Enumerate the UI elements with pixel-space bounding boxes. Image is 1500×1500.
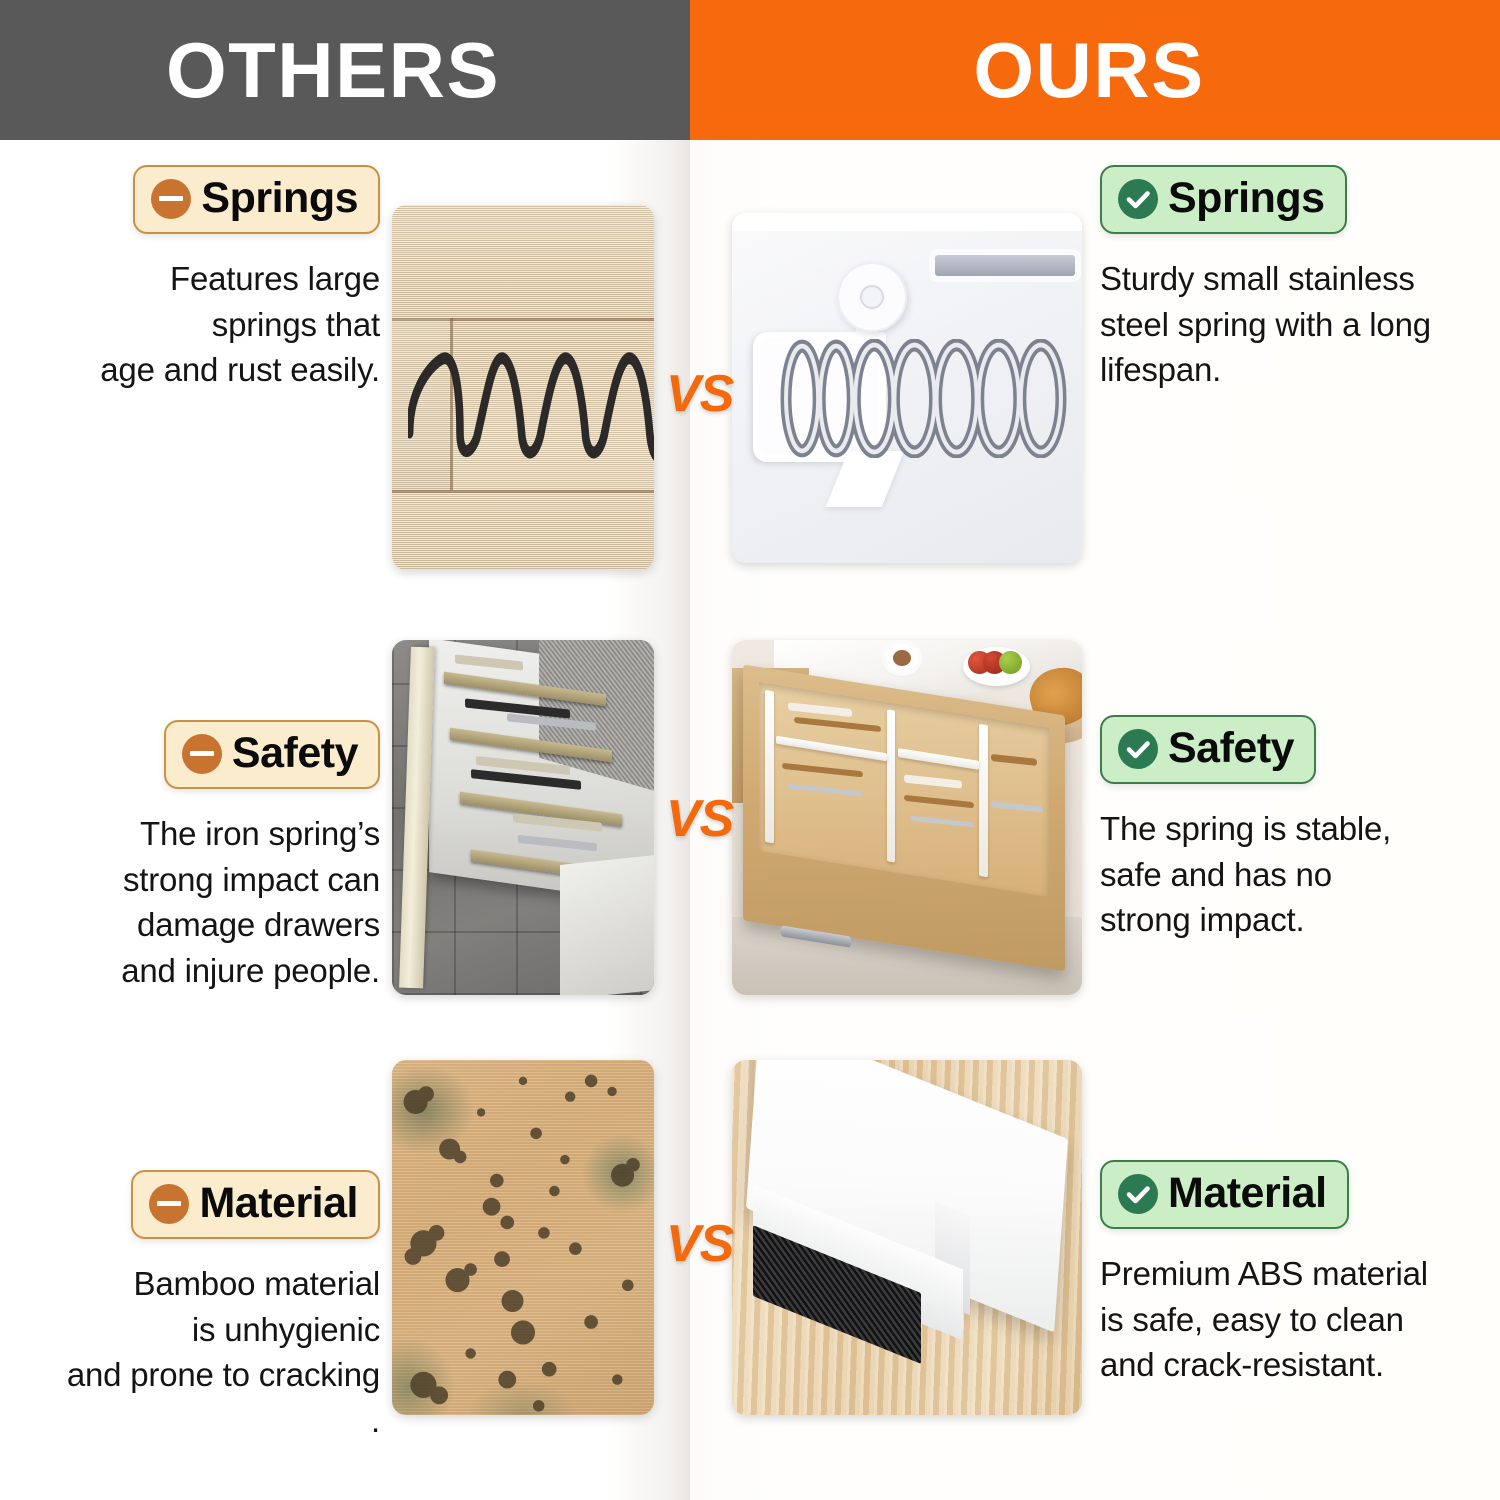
others-material-photo [392, 1060, 654, 1415]
desc-line: is unhygienic [40, 1307, 380, 1353]
tile-floor-background [392, 640, 654, 995]
desc-line: Premium ABS material [1100, 1251, 1470, 1297]
ours-header-title: OURS [973, 31, 1204, 109]
desc-line: springs that [40, 302, 380, 348]
drawer-divider [764, 690, 773, 843]
desc-line: steel spring with a long [1100, 302, 1470, 348]
desc-line: Bamboo material [40, 1261, 380, 1307]
coil-spring-icon [774, 339, 1075, 458]
drawer-divider [776, 735, 886, 761]
others-header-title: OTHERS [166, 31, 500, 109]
desc-line: safe and has no [1100, 852, 1470, 898]
zigzag-spring-icon [408, 329, 654, 475]
desc-line: The spring is stable, [1100, 806, 1470, 852]
mechanism-pivot [837, 262, 907, 332]
desc-line: . [40, 1398, 380, 1444]
others-safety-description: The iron spring’s strong impact can dama… [40, 811, 380, 993]
white-mechanism-body [732, 213, 1082, 563]
ours-material-photo [732, 1060, 1082, 1415]
coffee-cup [886, 644, 918, 672]
mold-spots [392, 1060, 654, 1415]
drawer-interior [759, 682, 1049, 897]
moldy-bamboo-texture [392, 1060, 654, 1415]
ours-material-badge: Material [1100, 1160, 1349, 1229]
drawer-utensil [990, 754, 1037, 766]
comparison-row-safety: Safety The iron spring’s strong impact c… [0, 605, 1500, 1025]
badge-label: Material [1168, 1171, 1327, 1216]
badge-label: Material [199, 1181, 358, 1226]
desc-line: and prone to cracking [40, 1352, 380, 1398]
apple-green [999, 651, 1022, 674]
badge-label: Safety [1168, 726, 1294, 771]
others-springs-photo [392, 205, 654, 570]
others-safety-badge: Safety [164, 720, 380, 789]
ours-safety-badge: Safety [1100, 715, 1316, 784]
ours-springs-description: Sturdy small stainless steel spring with… [1100, 256, 1470, 393]
wooden-drawer-body [743, 664, 1065, 971]
bamboo-board-texture [392, 205, 654, 570]
vs-marker: VS [666, 368, 733, 420]
vs-marker: VS [666, 1218, 733, 1270]
drawer-utensil [787, 783, 863, 796]
board-groove-bottom [392, 490, 654, 493]
minus-circle-icon [182, 734, 222, 774]
drawer-utensil [990, 801, 1042, 812]
check-circle-icon [1118, 729, 1158, 769]
desc-line: is safe, easy to clean [1100, 1297, 1470, 1343]
desc-line: The iron spring’s [40, 811, 380, 857]
minus-circle-icon [149, 1184, 189, 1224]
drawer-utensil [903, 795, 973, 808]
comparison-row-material: Material Bamboo material is unhygienic a… [0, 1025, 1500, 1445]
tidy-kitchen-scene [732, 640, 1082, 995]
desc-line: Sturdy small stainless [1100, 256, 1470, 302]
others-material-description: Bamboo material is unhygienic and prone … [40, 1261, 380, 1443]
fruit-plate [963, 647, 1030, 686]
desc-line: strong impact. [1100, 897, 1470, 943]
others-material-text-block: Material Bamboo material is unhygienic a… [40, 1170, 380, 1443]
others-springs-text-block: Springs Features large springs that age … [40, 165, 380, 393]
check-circle-icon [1118, 1174, 1158, 1214]
ours-header-banner: OURS [690, 0, 1500, 140]
light-wood-background [732, 1060, 1082, 1415]
ours-springs-badge: Springs [1100, 165, 1347, 234]
vs-marker: VS [666, 793, 733, 845]
badge-label: Springs [201, 176, 358, 221]
ours-safety-description: The spring is stable, safe and has no st… [1100, 806, 1470, 943]
ours-springs-photo [732, 213, 1082, 563]
minus-circle-icon [151, 179, 191, 219]
desc-line: damage drawers [40, 902, 380, 948]
desc-line: age and rust easily. [40, 347, 380, 393]
comparison-infographic: OTHERS OURS Springs Features large sprin… [0, 0, 1500, 1500]
badge-label: Safety [232, 731, 358, 776]
desc-line: and crack-resistant. [1100, 1342, 1470, 1388]
others-header-banner: OTHERS [0, 0, 690, 140]
check-circle-icon [1118, 179, 1158, 219]
mechanism-metal-slot [935, 255, 1075, 276]
desc-line: and injure people. [40, 948, 380, 994]
drawer-utensil [793, 717, 880, 732]
drawer-divider [979, 724, 988, 877]
comparison-row-springs: Springs Features large springs that age … [0, 165, 1500, 585]
drawer-utensil [782, 762, 863, 777]
desc-line: Features large [40, 256, 380, 302]
drawer-divider [886, 709, 895, 862]
drawer-utensil [903, 774, 961, 789]
ours-springs-text-block: Springs Sturdy small stainless steel spr… [1100, 165, 1470, 393]
ours-safety-text-block: Safety The spring is stable, safe and ha… [1100, 715, 1470, 943]
ours-material-description: Premium ABS material is safe, easy to cl… [1100, 1251, 1470, 1388]
drawer-divider [898, 748, 979, 769]
mechanism-top-bar [732, 213, 1082, 231]
others-safety-text-block: Safety The iron spring’s strong impact c… [40, 720, 380, 993]
desc-line: strong impact can [40, 857, 380, 903]
ours-material-text-block: Material Premium ABS material is safe, e… [1100, 1160, 1470, 1388]
ours-safety-photo [732, 640, 1082, 995]
drawer-utensil [787, 702, 851, 717]
drawer-utensil [909, 816, 973, 828]
others-springs-badge: Springs [133, 165, 380, 234]
others-material-badge: Material [131, 1170, 380, 1239]
badge-label: Springs [1168, 176, 1325, 221]
others-springs-description: Features large springs that age and rust… [40, 256, 380, 393]
others-safety-photo [392, 640, 654, 995]
cabinet-front [560, 855, 654, 995]
desc-line: lifespan. [1100, 347, 1470, 393]
